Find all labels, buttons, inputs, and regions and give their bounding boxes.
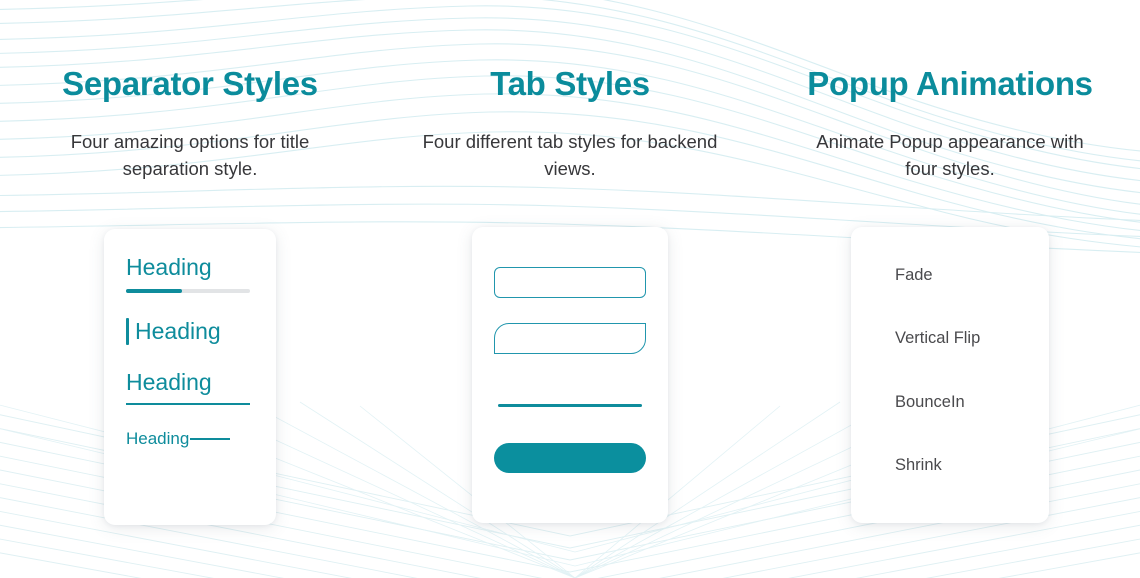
list-item[interactable]: BounceIn (895, 394, 1049, 411)
separator-rule (126, 289, 250, 293)
separator-label: Heading (126, 430, 189, 449)
feature-columns: Separator Styles Four amazing options fo… (0, 0, 1140, 578)
tab-style-solid-pill[interactable] (494, 443, 646, 473)
separator-rule (126, 403, 250, 405)
list-item[interactable]: Shrink (895, 457, 1049, 474)
column-subtitle: Four different tab styles for backend vi… (420, 128, 720, 182)
tab-style-list (494, 267, 646, 473)
column-popup-animations: Popup Animations Animate Popup appearanc… (760, 0, 1140, 578)
column-separator-styles: Separator Styles Four amazing options fo… (0, 0, 380, 578)
column-subtitle: Four amazing options for title separatio… (40, 128, 340, 182)
separator-label: Heading (126, 370, 254, 395)
list-item[interactable]: Vertical Flip (895, 330, 1049, 347)
separator-styles-card: Heading Heading Heading Heading (104, 229, 276, 525)
tab-style-underline-only[interactable] (498, 404, 642, 407)
tab-style-rounded-outline[interactable] (494, 267, 646, 298)
column-title: Popup Animations (807, 66, 1092, 103)
popup-animation-list: Fade Vertical Flip BounceIn Shrink (851, 267, 1049, 474)
separator-style-bar-over-rule[interactable]: Heading (126, 255, 254, 293)
column-title: Tab Styles (490, 66, 650, 103)
column-title: Separator Styles (62, 66, 318, 103)
separator-style-inline-trailing-rule[interactable]: Heading (126, 430, 254, 449)
separator-rule (190, 438, 230, 440)
popup-animations-card: Fade Vertical Flip BounceIn Shrink (851, 227, 1049, 523)
separator-style-full-underline[interactable]: Heading (126, 370, 254, 404)
separator-label: Heading (135, 318, 221, 345)
tab-styles-card (472, 227, 668, 523)
column-tab-styles: Tab Styles Four different tab styles for… (380, 0, 760, 578)
separator-vertical-bar (126, 318, 129, 345)
tab-style-diagonal-corner-outline[interactable] (494, 323, 646, 354)
separator-label: Heading (126, 255, 254, 280)
separator-style-left-vertical-bar[interactable]: Heading (126, 318, 254, 345)
list-item[interactable]: Fade (895, 267, 1049, 284)
column-subtitle: Animate Popup appearance with four style… (800, 128, 1100, 182)
